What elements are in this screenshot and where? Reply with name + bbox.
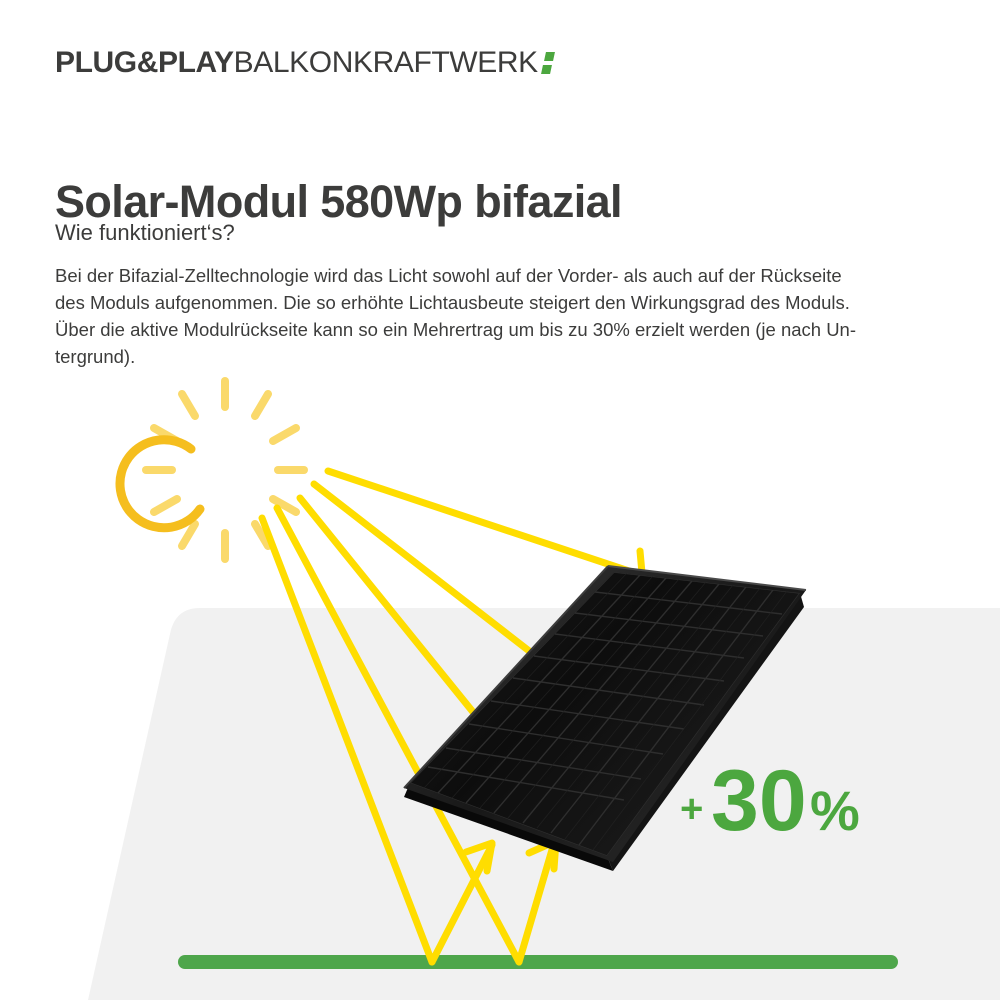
body-line-2: des Moduls aufgenommen. Die so erhöhte L…	[55, 289, 935, 316]
gain-plus-sign: +	[680, 787, 703, 831]
page-title: Solar-Modul 580Wp bifazial	[55, 178, 622, 225]
gain-value: 30	[711, 753, 807, 849]
illustration-scene: + 30 %	[0, 0, 1000, 1000]
green-ground-bar	[178, 955, 898, 969]
gain-unit: %	[810, 779, 860, 842]
sun-with-rays-icon	[120, 381, 304, 559]
section-subtitle: Wie funktioniert‘s?	[55, 220, 235, 246]
logo-bold-text: PLUG&PLAY	[55, 48, 234, 78]
body-line-4: tergrund).	[55, 343, 935, 370]
body-line-1: Bei der Bifazial-Zelltechnologie wird da…	[55, 262, 935, 289]
logo-light-text: BALKONKRAFTWERK	[234, 48, 538, 78]
green-slanted-colon-icon	[541, 48, 557, 78]
body-line-3: Über die aktive Modulrückseite kann so e…	[55, 316, 935, 343]
brand-logo[interactable]: PLUG&PLAY BALKONKRAFTWERK	[55, 48, 557, 78]
body-paragraph: Bei der Bifazial-Zelltechnologie wird da…	[55, 262, 935, 370]
infographic-page: + 30 % PLUG&PLAY BALKONKRAFTWERK Solar-M…	[0, 0, 1000, 1000]
